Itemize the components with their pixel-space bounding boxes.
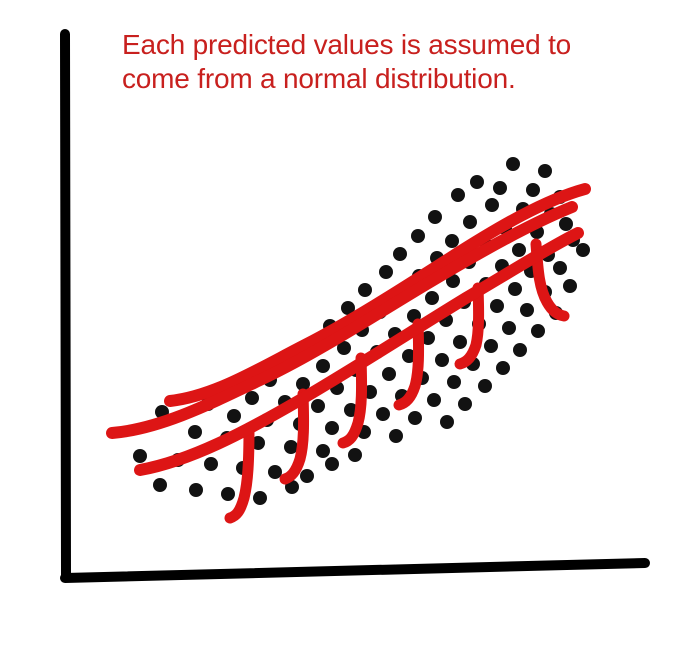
data-point [221,487,235,501]
data-point [526,183,540,197]
regression-figure: Each predicted values is assumed to come… [0,0,697,665]
data-point [553,261,567,275]
data-point [576,243,590,257]
data-point [153,478,167,492]
data-point [393,247,407,261]
data-point [513,343,527,357]
data-point [325,421,339,435]
data-point [451,188,465,202]
data-point [458,397,472,411]
data-point [189,483,203,497]
data-point [268,465,282,479]
data-point [204,457,218,471]
data-point [348,448,362,462]
data-point [316,359,330,373]
scatter-plot-canvas [0,0,697,665]
data-point [470,175,484,189]
data-point [440,415,454,429]
data-point [508,282,522,296]
upper-band-line [170,189,585,401]
data-point [445,234,459,248]
data-point [379,265,393,279]
data-point [563,279,577,293]
data-point [376,407,390,421]
data-point [484,339,498,353]
data-point [435,353,449,367]
data-point [453,335,467,349]
data-point [531,324,545,338]
data-point [520,303,534,317]
data-point [300,469,314,483]
data-point [227,409,241,423]
x-axis-line [65,563,645,578]
data-point [502,321,516,335]
data-point [427,393,441,407]
data-point [485,198,499,212]
data-point [512,243,526,257]
data-point [382,367,396,381]
data-point [411,229,425,243]
data-point [389,429,403,443]
data-point [253,491,267,505]
data-point [325,457,339,471]
data-point [559,217,573,231]
data-point [506,157,520,171]
data-point [188,425,202,439]
data-point [496,361,510,375]
data-point [245,391,259,405]
data-point [490,299,504,313]
data-point [316,444,330,458]
data-point [447,375,461,389]
data-point [358,283,372,297]
data-point [463,215,477,229]
data-point [311,399,325,413]
axes-group [65,34,645,578]
data-point [133,449,147,463]
data-point [428,210,442,224]
data-point [408,411,422,425]
data-point [538,164,552,178]
data-point [425,291,439,305]
y-axis-line [65,34,66,575]
data-point [493,181,507,195]
data-point [478,379,492,393]
